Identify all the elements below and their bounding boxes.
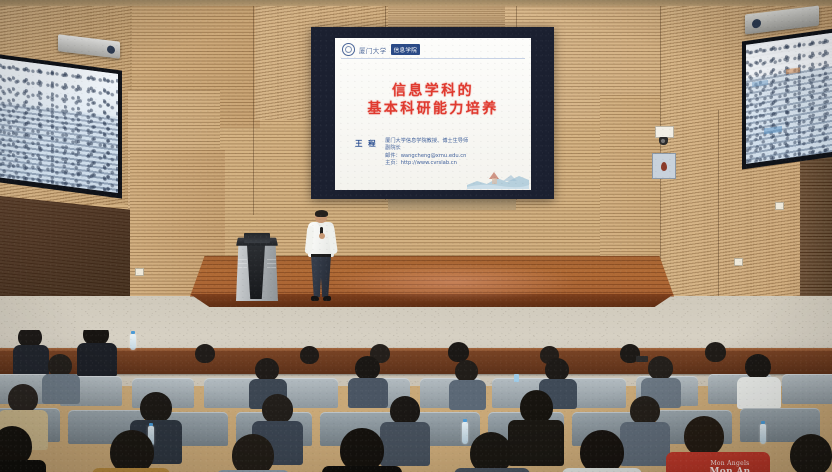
presenter-hair [315,210,328,217]
presenter-name: 王 程 [355,138,377,168]
audience-area: Mon Angels Mon An [0,330,832,472]
presenter-details: 厦门大学信息学院教授、博士生导师 副院长 邮件：wangcheng@xmu.ed… [385,138,468,168]
right-live-feed-screen[interactable] [742,28,832,169]
wall-seam [660,0,661,300]
slide-header: 厦门大学 信息学院 [342,43,420,56]
left-feed-image [0,58,118,193]
slide-divider [341,58,525,59]
power-outlet [135,268,144,276]
surveillance-camera-icon [659,137,668,145]
stage-light-reflection [330,262,580,302]
presenter-website: 主页：http://www.cvrslab.cn [385,160,468,167]
slide-title: 信息学科的 基本科研能力培养 [335,82,531,119]
power-outlet [775,202,784,210]
campus-watercolor-icon [467,159,529,189]
presenter-role: 副院长 [385,145,468,152]
right-feed-image [746,32,832,164]
projector-lens-icon [752,19,761,29]
school-tag: 信息学院 [391,44,421,54]
slide-title-line2: 基本科研能力培养 [335,100,531,119]
ceiling-strip [0,0,832,6]
presentation-slide[interactable]: 厦门大学 信息学院 信息学科的 基本科研能力培养 王 程 厦门大学信息学院教授、… [335,38,531,190]
presenter-laptop[interactable] [244,233,270,243]
power-outlet [734,258,743,266]
wall-seam [718,110,719,310]
presenter-hand [319,233,325,239]
presenter [305,210,337,302]
lectern[interactable] [232,233,282,301]
wall-seam [253,0,254,215]
presenter-belt [311,254,331,257]
projector-lens-icon [107,45,115,54]
slide-byline: 王 程 厦门大学信息学院教授、博士生导师 副院长 邮件：wangcheng@xm… [355,138,468,168]
fire-safety-sign [652,153,676,179]
red-shirt-graphic-text: Mon Angels Mon An [690,460,770,472]
university-seal-icon [342,43,355,56]
slide-title-line1: 信息学科的 [335,82,531,100]
university-name: 厦门大学 [359,45,387,55]
presenter-shoe [311,296,319,301]
left-live-feed-screen[interactable] [0,54,122,199]
presenter-trousers [311,255,331,297]
lecture-hall-scene: 厦门大学 信息学院 信息学科的 基本科研能力培养 王 程 厦门大学信息学院教授、… [0,0,832,472]
presenter-shoe [323,296,331,301]
